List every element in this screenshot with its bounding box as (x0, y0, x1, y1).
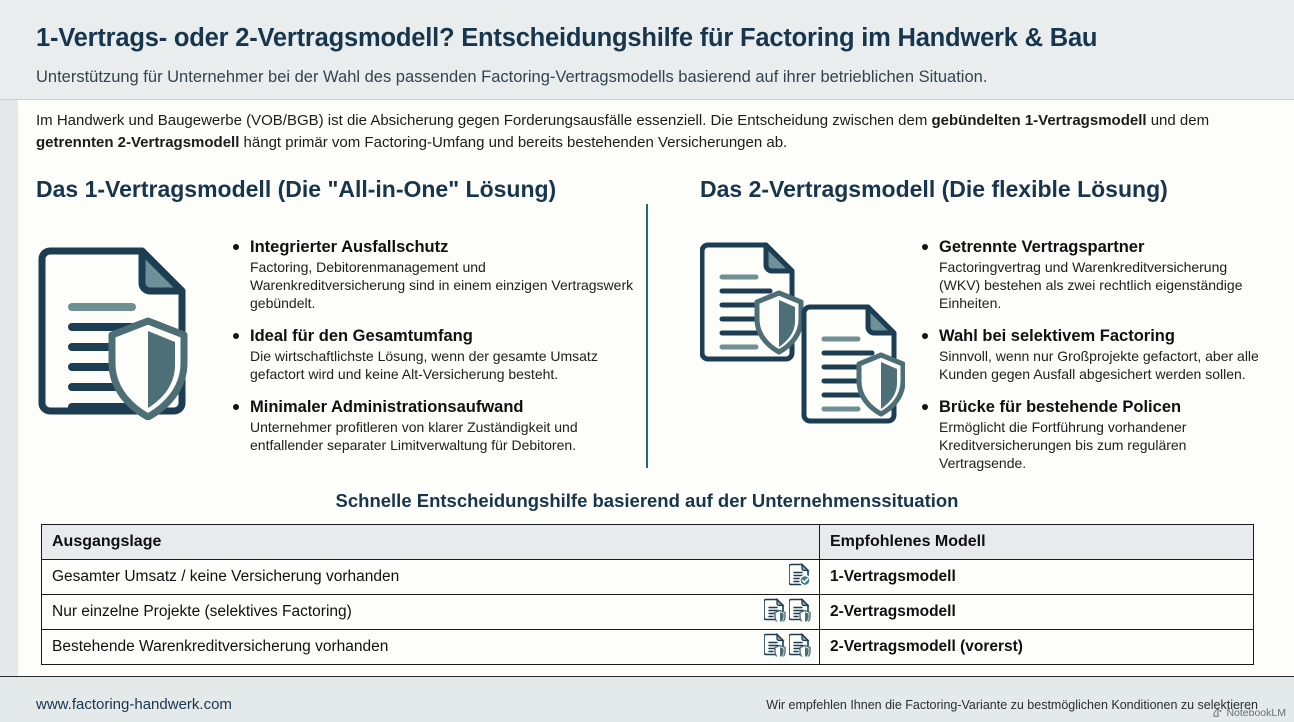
bullet-title: Wahl bei selektivem Factoring (939, 326, 1260, 346)
column-two-bullets: Getrennte Vertragspartner Factoringvertr… (921, 217, 1260, 486)
footer-note: Wir empfehlen Ihnen die Factoring-Varian… (766, 698, 1258, 712)
bullet-title: Integrierter Ausfallschutz (250, 237, 636, 257)
infographic-page: 1-Vertrags- oder 2-Vertragsmodell? Entsc… (0, 0, 1294, 722)
situation-text: Nur einzelne Projekte (selektives Factor… (52, 603, 352, 620)
bullet-description: Unternehmer profitleren von klarer Zustä… (250, 418, 636, 454)
bullet-description: Sinnvoll, wenn nur Großprojekte gefactor… (939, 347, 1260, 383)
column-divider (646, 204, 648, 468)
intro-paragraph: Im Handwerk und Baugewerbe (VOB/BGB) ist… (36, 110, 1251, 154)
cell-model: 2-Vertragsmodell (vorerst) (820, 630, 1254, 665)
row-icon-group (764, 633, 811, 662)
cell-model: 2-Vertragsmodell (820, 595, 1254, 630)
list-item: Getrennte Vertragspartner Factoringvertr… (921, 237, 1260, 312)
intro-bold-2: getrennten 2-Vertragsmodell (36, 134, 239, 151)
bullet-description: Die wirtschaftlichste Lösung, wenn der g… (250, 347, 636, 383)
model-text: 2-Vertragsmodell (vorerst) (830, 638, 1023, 655)
table-header-row: Ausgangslage Empfohlenes Modell (42, 525, 1254, 560)
column-one-heading: Das 1-Vertragsmodell (Die "All-in-One" L… (36, 176, 636, 203)
document-shield-icon (764, 633, 786, 662)
cell-situation: Nur einzelne Projekte (selektives Factor… (42, 595, 820, 630)
table-row: Bestehende Warenkreditversicherung vorha… (42, 630, 1254, 665)
table-row: Gesamter Umsatz / keine Versicherung vor… (42, 560, 1254, 595)
bullet-title: Brücke für bestehende Policen (939, 397, 1260, 417)
column-one-body: Integrierter Ausfallschutz Factoring, De… (36, 217, 636, 468)
recommendation-table: Ausgangslage Empfohlenes Modell Gesamter… (41, 524, 1254, 665)
column-one-contract-model: Das 1-Vertragsmodell (Die "All-in-One" L… (36, 176, 636, 476)
page-subtitle: Unterstützung für Unternehmer bei der Wa… (36, 68, 1276, 87)
left-margin-strip (0, 0, 18, 722)
notebooklm-watermark: NotebookLM (1212, 707, 1286, 719)
document-shield-icon (36, 217, 226, 425)
bullet-description: Factoring, Debitorenmanagement und Waren… (250, 258, 636, 312)
document-shield-icon (789, 633, 811, 662)
column-header-model: Empfohlenes Modell (820, 525, 1254, 560)
list-item: Integrierter Ausfallschutz Factoring, De… (232, 237, 636, 312)
document-shield-icon (764, 598, 786, 627)
situation-text: Gesamter Umsatz / keine Versicherung vor… (52, 568, 399, 585)
bullet-title: Minimaler Administrationsaufwand (250, 397, 636, 417)
model-text: 1-Vertragsmodell (830, 568, 956, 585)
row-icon-group (789, 563, 811, 592)
row-icon-group (764, 598, 811, 627)
column-two-contract-model: Das 2-Vertragsmodell (Die flexible Lösun… (700, 176, 1260, 476)
bullet-description: Ermöglicht die Fortführung vorhandener K… (939, 418, 1260, 472)
list-item: Wahl bei selektivem Factoring Sinnvoll, … (921, 326, 1260, 383)
document-check-icon (789, 563, 811, 592)
intro-text-3: hängt primär vom Factoring-Umfang und be… (239, 134, 787, 151)
two-documents-shield-icon (700, 217, 915, 430)
table-title: Schnelle Entscheidungshilfe basierend au… (0, 490, 1294, 512)
cell-situation: Gesamter Umsatz / keine Versicherung vor… (42, 560, 820, 595)
model-text: 2-Vertragsmodell (830, 603, 956, 620)
column-header-situation: Ausgangslage (42, 525, 820, 560)
cell-situation: Bestehende Warenkreditversicherung vorha… (42, 630, 820, 665)
intro-bold-1: gebündelten 1-Vertragsmodell (931, 112, 1146, 129)
bullet-title: Getrennte Vertragspartner (939, 237, 1260, 257)
list-item: Minimaler Administrationsaufwand Unterne… (232, 397, 636, 454)
intro-text-2: und dem (1147, 112, 1210, 129)
page-title: 1-Vertrags- oder 2-Vertragsmodell? Entsc… (36, 24, 1276, 53)
list-item: Brücke für bestehende Policen Ermöglicht… (921, 397, 1260, 472)
column-two-heading: Das 2-Vertragsmodell (Die flexible Lösun… (700, 176, 1260, 203)
bullet-description: Factoringvertrag und Warenkreditversiche… (939, 258, 1260, 312)
column-two-body: Getrennte Vertragspartner Factoringvertr… (700, 217, 1260, 486)
footer-url[interactable]: www.factoring-handwerk.com (36, 696, 232, 713)
intro-text-1: Im Handwerk und Baugewerbe (VOB/BGB) ist… (36, 112, 931, 129)
document-shield-icon (789, 598, 811, 627)
notebooklm-logo-icon (1212, 708, 1223, 719)
bullet-title: Ideal für den Gesamtumfang (250, 326, 636, 346)
table-row: Nur einzelne Projekte (selektives Factor… (42, 595, 1254, 630)
watermark-label: NotebookLM (1226, 707, 1286, 719)
cell-model: 1-Vertragsmodell (820, 560, 1254, 595)
list-item: Ideal für den Gesamtumfang Die wirtschaf… (232, 326, 636, 383)
situation-text: Bestehende Warenkreditversicherung vorha… (52, 638, 388, 655)
column-one-bullets: Integrierter Ausfallschutz Factoring, De… (232, 217, 636, 468)
